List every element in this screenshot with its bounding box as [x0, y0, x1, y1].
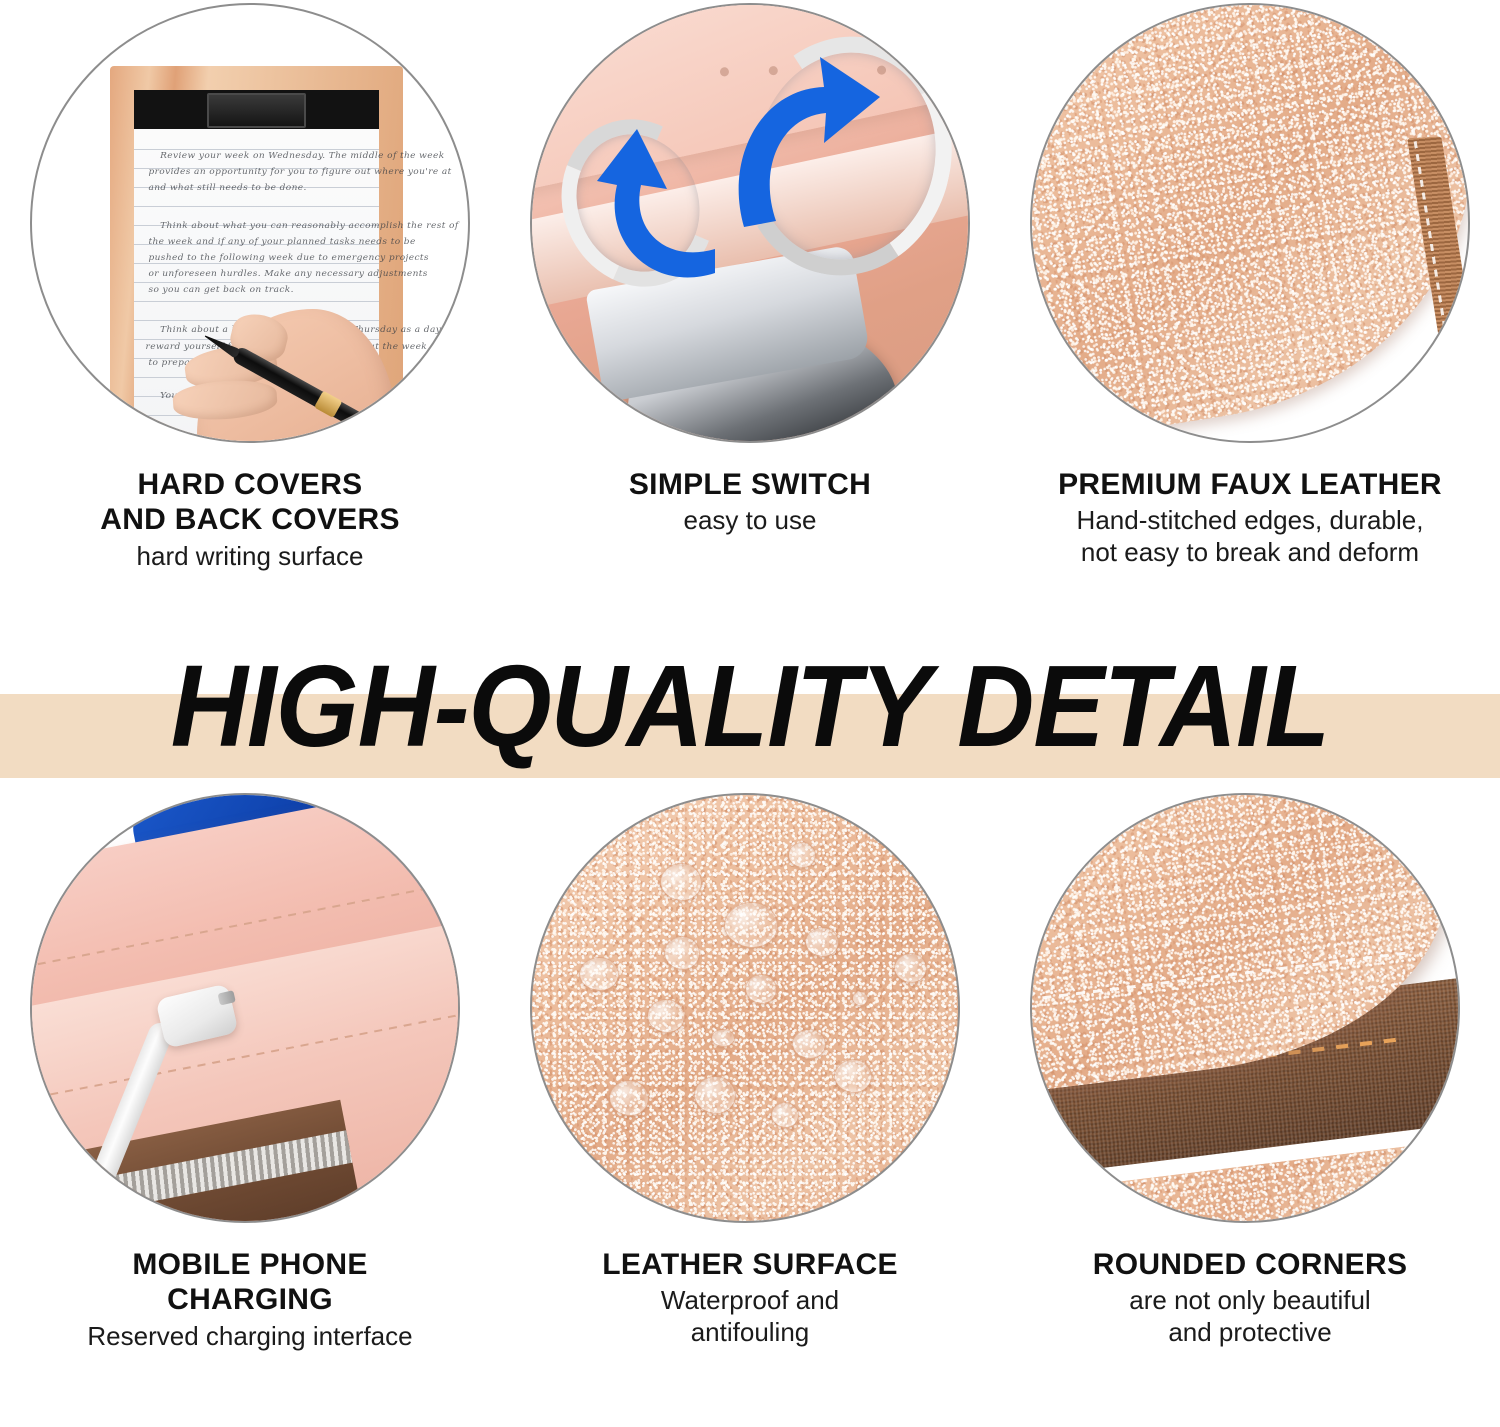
water-droplet	[792, 1029, 826, 1059]
glitter-cover-panel	[1030, 3, 1470, 443]
caption-rounded-corners: ROUNDED CORNERS are not only beautiful a…	[1000, 1247, 1500, 1348]
water-droplet	[834, 1059, 872, 1093]
handwriting-line: pushed to the following week due to emer…	[148, 254, 429, 263]
feature-subtitle: Waterproof and antifouling	[510, 1285, 990, 1347]
water-droplet	[788, 842, 816, 868]
feature-row-bottom: MOBILE PHONE CHARGING Reserved charging …	[0, 790, 1500, 1427]
handwriting-line: or unforeseen hurdles. Make any necessar…	[148, 270, 427, 279]
feature-subtitle: Reserved charging interface	[10, 1321, 490, 1352]
handwriting-line: provides an opportunity for you to figur…	[148, 168, 451, 177]
feature-subtitle: are not only beautiful and protective	[1010, 1285, 1490, 1347]
caption-leather-surface: LEATHER SURFACE Waterproof and antifouli…	[500, 1247, 1000, 1348]
water-droplet	[771, 1102, 799, 1128]
water-droplet	[745, 974, 777, 1004]
charging-interface-photo	[30, 793, 460, 1223]
water-droplet	[724, 902, 778, 948]
clipboard-glitter-body: Review your week on Wednesday. The middl…	[110, 66, 402, 443]
feature-cell-simple-switch: SIMPLE SWITCH easy to use	[500, 0, 1000, 650]
waterproof-surface-photo	[530, 793, 960, 1223]
feature-image-wrap-rounded-corners	[1030, 793, 1470, 1233]
water-droplet	[852, 991, 868, 1006]
feature-cell-rounded-corners: ROUNDED CORNERS are not only beautiful a…	[1000, 790, 1500, 1427]
water-droplet	[609, 1080, 649, 1116]
feature-cell-premium-faux-leather: PREMIUM FAUX LEATHER Hand-stitched edges…	[1000, 0, 1500, 650]
water-droplet	[711, 1029, 735, 1047]
feature-image-wrap-leather-surface	[530, 793, 970, 1233]
feature-cell-mobile-phone-charging: MOBILE PHONE CHARGING Reserved charging …	[0, 790, 500, 1427]
feature-subtitle: Hand-stitched edges, durable, not easy t…	[1010, 505, 1490, 567]
feature-title: HARD COVERS AND BACK COVERS	[10, 467, 490, 538]
clipboard-black-clip	[134, 90, 379, 129]
faux-leather-photo	[1030, 3, 1470, 443]
feature-image-wrap-charging	[30, 793, 470, 1233]
product-feature-infographic: Review your week on Wednesday. The middl…	[0, 0, 1500, 1427]
water-droplet	[647, 999, 685, 1033]
feature-cell-hard-covers: Review your week on Wednesday. The middl…	[0, 0, 500, 650]
arrow-right-icon	[724, 49, 889, 234]
feature-cell-leather-surface: LEATHER SURFACE Waterproof and antifouli…	[500, 790, 1000, 1427]
arrow-left-icon	[593, 123, 743, 293]
caption-hard-covers: HARD COVERS AND BACK COVERS hard writing…	[0, 467, 500, 572]
feature-title: LEATHER SURFACE	[510, 1247, 990, 1282]
caption-mobile-phone-charging: MOBILE PHONE CHARGING Reserved charging …	[0, 1247, 500, 1352]
handwriting-line: Think about what you can reasonably acco…	[160, 221, 458, 230]
water-droplet	[664, 936, 700, 970]
water-droplet	[579, 957, 619, 991]
feature-row-top: Review your week on Wednesday. The middl…	[0, 0, 1500, 650]
rounded-corner-photo	[1030, 793, 1460, 1223]
water-droplet	[660, 863, 702, 901]
high-quality-detail-banner: HIGH-QUALITY DETAIL	[0, 694, 1500, 778]
binder-ring-photo	[530, 3, 970, 443]
feature-title: SIMPLE SWITCH	[510, 467, 990, 502]
water-droplet	[894, 953, 927, 983]
handwriting-line: so you can get back on track.	[148, 286, 293, 295]
caption-premium-faux-leather: PREMIUM FAUX LEATHER Hand-stitched edges…	[1000, 467, 1500, 568]
feature-image-wrap-hard-covers: Review your week on Wednesday. The middl…	[30, 3, 470, 443]
water-droplet	[805, 927, 839, 957]
water-droplet	[694, 1076, 736, 1114]
feature-title: MOBILE PHONE CHARGING	[10, 1247, 490, 1318]
caption-simple-switch: SIMPLE SWITCH easy to use	[500, 467, 1000, 537]
handwriting-line: Review your week on Wednesday. The middl…	[160, 152, 444, 161]
feature-image-wrap-faux-leather	[1030, 3, 1470, 443]
handwriting-line: the week and if any of your planned task…	[148, 237, 415, 246]
feature-title: PREMIUM FAUX LEATHER	[1010, 467, 1490, 502]
feature-subtitle: easy to use	[510, 505, 990, 536]
clipboard-photo: Review your week on Wednesday. The middl…	[30, 3, 470, 443]
handwriting-line: and what still needs to be done.	[148, 184, 306, 193]
feature-title: ROUNDED CORNERS	[1010, 1247, 1490, 1282]
banner-title: HIGH-QUALITY DETAIL	[60, 648, 1440, 764]
feature-subtitle: hard writing surface	[10, 541, 490, 572]
feature-image-wrap-simple-switch	[530, 3, 970, 443]
clipboard-clip-lever	[207, 93, 305, 128]
